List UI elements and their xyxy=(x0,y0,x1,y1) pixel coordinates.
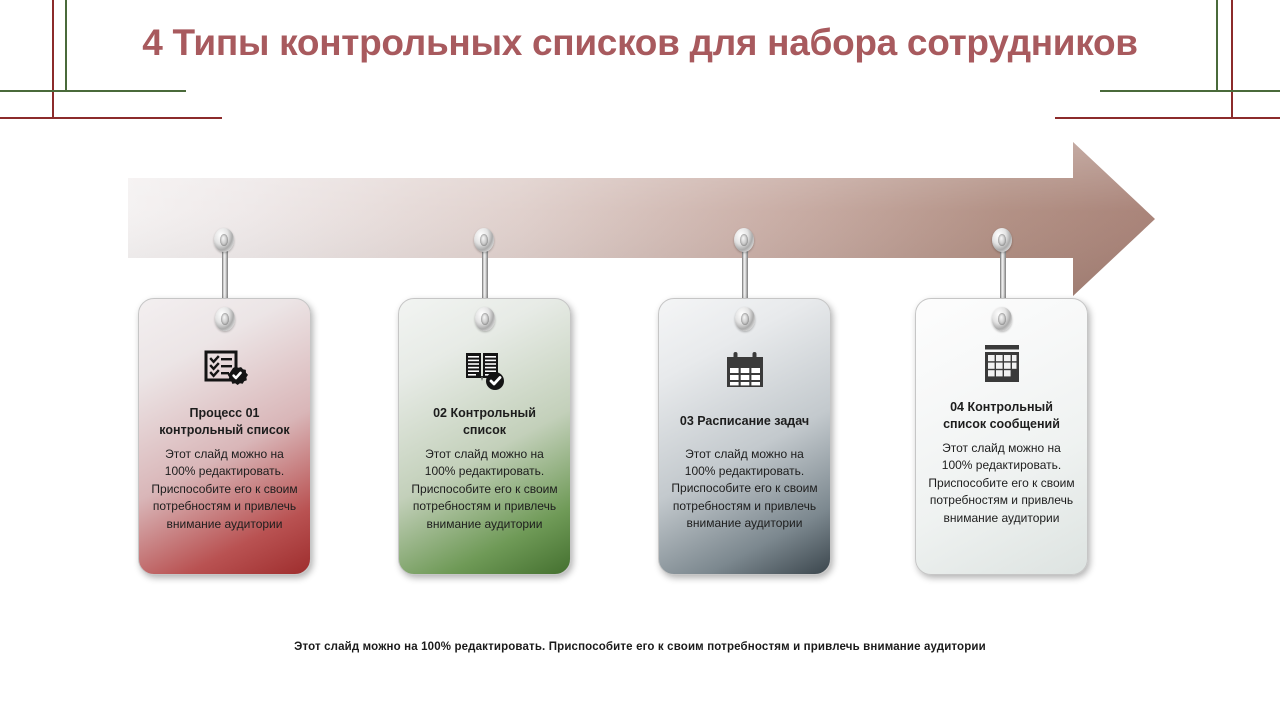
slide-canvas: 4 Типы контрольных списков для набора со… xyxy=(0,0,1280,720)
card-body: Этот слайд можно на 100% редактировать. … xyxy=(670,446,820,533)
card-title: 02 Контрольный список xyxy=(411,405,559,438)
checklist-card-04[interactable]: 04 Контрольный список сообщений Этот сла… xyxy=(915,298,1088,575)
frame-line-top-right-horizontal-green xyxy=(1100,90,1280,92)
checklist-card-03[interactable]: 03 Расписание задач Этот слайд можно на … xyxy=(658,298,831,575)
checklist-verified-icon xyxy=(202,347,248,395)
card-body: Этот слайд можно на 100% редактировать. … xyxy=(150,446,300,533)
frame-line-top-right-vertical-green xyxy=(1216,0,1218,91)
calendar-icon xyxy=(723,347,767,395)
frame-line-top-left-vertical-red xyxy=(52,0,54,118)
checklist-card-02[interactable]: 02 Контрольный список Этот слайд можно н… xyxy=(398,298,571,575)
document-check-icon xyxy=(462,347,508,395)
frame-line-top-left-horizontal-red xyxy=(0,117,222,119)
card-title: Процесс 01 контрольный список xyxy=(151,405,299,438)
table-grid-icon xyxy=(979,341,1025,389)
card-body: Этот слайд можно на 100% редактировать. … xyxy=(410,446,560,533)
page-title: 4 Типы контрольных списков для набора со… xyxy=(88,22,1192,64)
card-eyelet-ring xyxy=(992,307,1012,331)
footer-caption: Этот слайд можно на 100% редактировать. … xyxy=(0,641,1280,653)
card-body: Этот слайд можно на 100% редактировать. … xyxy=(927,440,1077,527)
frame-line-top-left-vertical-green xyxy=(65,0,67,91)
frame-line-top-left-horizontal-green xyxy=(0,90,186,92)
frame-line-top-right-horizontal-red xyxy=(1055,117,1280,119)
hanger-ring-top xyxy=(214,228,234,252)
hanger-ring-top xyxy=(474,228,494,252)
card-eyelet-ring xyxy=(735,307,755,331)
frame-line-top-right-vertical-red xyxy=(1231,0,1233,118)
card-eyelet-ring xyxy=(215,307,235,331)
hanger-ring-top xyxy=(992,228,1012,252)
card-title: 04 Контрольный список сообщений xyxy=(928,399,1076,432)
card-eyelet-ring xyxy=(475,307,495,331)
card-title: 03 Расписание задач xyxy=(671,413,819,430)
checklist-card-01[interactable]: Процесс 01 контрольный список Этот слайд… xyxy=(138,298,311,575)
hanger-ring-top xyxy=(734,228,754,252)
